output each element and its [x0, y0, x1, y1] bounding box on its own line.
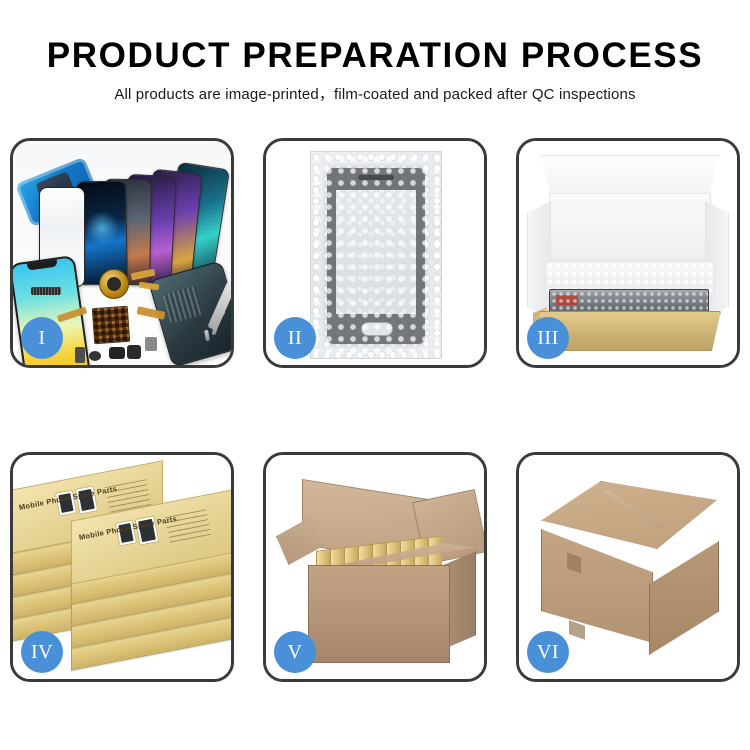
step-numeral-2: II — [288, 328, 302, 348]
connector-graphic — [31, 287, 61, 295]
carton-tape-patch-graphic — [569, 620, 585, 640]
step-panel-6: VI — [516, 452, 740, 682]
small-part-graphic — [127, 345, 141, 359]
header: PRODUCT PREPARATION PROCESS All products… — [0, 0, 750, 104]
page-title: PRODUCT PREPARATION PROCESS — [0, 0, 750, 76]
step-panel-4: Mobile Phone Spare Parts Mobile Phone Sp… — [10, 452, 234, 682]
step-numeral-6: VI — [537, 642, 559, 662]
carton-left-face-graphic — [541, 529, 653, 643]
small-part-graphic — [109, 347, 125, 359]
home-button-graphic — [361, 322, 393, 336]
earpiece-slot-graphic — [358, 175, 394, 180]
step-numeral-1: I — [38, 328, 45, 348]
step-numeral-3: III — [537, 328, 558, 348]
step-badge-3: III — [527, 317, 569, 359]
step-panel-2: II — [263, 138, 487, 368]
step-numeral-4: IV — [31, 642, 53, 662]
step-panel-3: III — [516, 138, 740, 368]
process-steps-grid: I II — [10, 138, 740, 678]
wrapped-screen-graphic — [327, 168, 425, 344]
product-preparation-process-infographic: PRODUCT PREPARATION PROCESS All products… — [0, 0, 750, 750]
step-badge-2: II — [274, 317, 316, 359]
step-badge-4: IV — [21, 631, 63, 673]
step-badge-1: I — [21, 317, 63, 359]
step-panel-1: I — [10, 138, 234, 368]
bubble-wrap-graphic — [310, 151, 442, 359]
small-part-graphic — [75, 347, 85, 363]
chip-array-graphic — [92, 306, 130, 344]
carton-front-panel-graphic — [308, 565, 450, 663]
small-part-graphic — [145, 337, 157, 351]
step-badge-6: VI — [527, 631, 569, 673]
carton-right-face-graphic — [649, 541, 719, 655]
page-subtitle: All products are image-printed，film-coat… — [0, 76, 750, 104]
step-numeral-5: V — [288, 642, 303, 662]
step-panel-5: V — [263, 452, 487, 682]
small-part-graphic — [89, 351, 101, 361]
wireless-coil-graphic — [99, 269, 129, 299]
step-badge-5: V — [274, 631, 316, 673]
carton-top-face-graphic — [541, 481, 717, 549]
